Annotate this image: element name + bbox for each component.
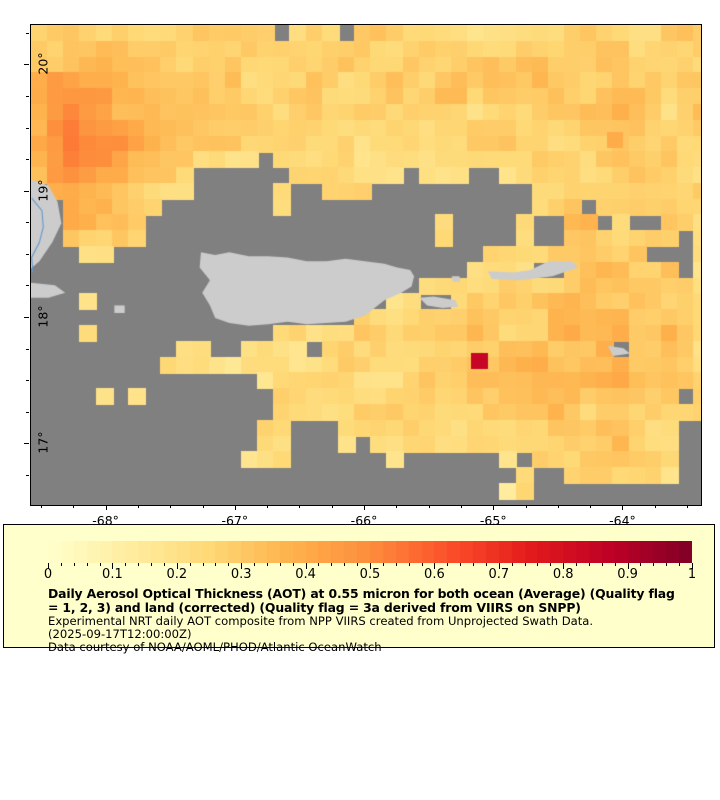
colorbar-tick xyxy=(512,563,513,566)
aot-map-panel[interactable] xyxy=(30,24,702,506)
x-tick-minor xyxy=(41,505,42,508)
colorbar-tick xyxy=(293,563,294,566)
colorbar-tick xyxy=(318,563,319,566)
colorbar-tick-label: 0.3 xyxy=(231,567,252,582)
colorbar-tick xyxy=(679,563,680,566)
y-tick-minor xyxy=(26,128,29,129)
y-tick-major xyxy=(24,191,29,192)
colorbar-tick xyxy=(267,563,268,566)
colorbar-tick-label: 0.5 xyxy=(360,567,381,582)
x-tick-minor xyxy=(687,505,688,508)
x-tick-minor xyxy=(267,505,268,508)
colorbar-tick xyxy=(447,563,448,566)
x-tick-minor xyxy=(590,505,591,508)
colorbar-tick xyxy=(87,563,88,566)
colorbar-tick-label: 0.6 xyxy=(424,567,445,582)
y-tick-minor xyxy=(26,254,29,255)
x-tick-minor xyxy=(332,505,333,508)
x-tick-minor xyxy=(558,505,559,508)
x-tick-minor xyxy=(461,505,462,508)
colorbar-tick xyxy=(422,563,423,566)
colorbar-tick xyxy=(100,563,101,566)
y-tick-minor xyxy=(26,412,29,413)
y-axis-label: 19° xyxy=(36,179,51,201)
x-tick-minor xyxy=(396,505,397,508)
y-tick-major xyxy=(24,443,29,444)
y-tick-major xyxy=(24,64,29,65)
aot-map-page: -68°-67°-66°-65°-64°17°18°19°20° 00.10.2… xyxy=(0,0,720,800)
y-tick-minor xyxy=(26,159,29,160)
colorbar-tick xyxy=(460,563,461,566)
colorbar-tick xyxy=(151,563,152,566)
colorbar-tick xyxy=(228,563,229,566)
colorbar-tick xyxy=(666,563,667,566)
colorbar-tick-label: 1 xyxy=(688,567,696,582)
y-tick-minor xyxy=(26,380,29,381)
y-tick-major xyxy=(24,317,29,318)
colorbar-tick-label: 0.8 xyxy=(553,567,574,582)
y-axis-label: 18° xyxy=(36,305,51,327)
x-tick-minor xyxy=(526,505,527,508)
y-tick-minor xyxy=(26,475,29,476)
colorbar-tick xyxy=(203,563,204,566)
colorbar-tick xyxy=(215,563,216,566)
colorbar-tick xyxy=(61,563,62,566)
colorbar-tick xyxy=(344,563,345,566)
colorbar-tick xyxy=(190,563,191,566)
colorbar[interactable] xyxy=(48,541,692,563)
colorbar-tick xyxy=(525,563,526,566)
legend-caption-subtitle: Experimental NRT daily AOT composite fro… xyxy=(48,615,698,654)
x-tick-minor xyxy=(655,505,656,508)
colorbar-tick xyxy=(589,563,590,566)
y-tick-minor xyxy=(26,285,29,286)
x-tick-minor xyxy=(203,505,204,508)
x-tick-major xyxy=(622,505,623,510)
colorbar-tick xyxy=(280,563,281,566)
colorbar-tick xyxy=(473,563,474,566)
y-tick-minor xyxy=(26,96,29,97)
colorbar-tick xyxy=(396,563,397,566)
legend-caption-title: Daily Aerosol Optical Thickness (AOT) at… xyxy=(48,587,688,614)
x-tick-major xyxy=(235,505,236,510)
colorbar-tick-label: 0.4 xyxy=(295,567,316,582)
colorbar-tick-label: 0.9 xyxy=(617,567,638,582)
x-tick-minor xyxy=(73,505,74,508)
aot-raster xyxy=(31,25,701,505)
colorbar-tick-label: 0.1 xyxy=(102,567,123,582)
y-axis-label: 17° xyxy=(36,432,51,454)
colorbar-tick xyxy=(74,563,75,566)
colorbar-tick xyxy=(125,563,126,566)
x-tick-minor xyxy=(170,505,171,508)
y-tick-minor xyxy=(26,33,29,34)
colorbar-tick xyxy=(409,563,410,566)
colorbar-tick xyxy=(138,563,139,566)
legend-panel: 00.10.20.30.40.50.60.70.80.91 Daily Aero… xyxy=(3,524,715,648)
x-tick-minor xyxy=(299,505,300,508)
colorbar-tick-label: 0.2 xyxy=(166,567,187,582)
colorbar-tick xyxy=(357,563,358,566)
colorbar-tick-label: 0 xyxy=(44,567,52,582)
colorbar-tick xyxy=(486,563,487,566)
colorbar-tick xyxy=(383,563,384,566)
y-tick-minor xyxy=(26,222,29,223)
x-tick-major xyxy=(364,505,365,510)
y-axis-label: 20° xyxy=(36,53,51,75)
colorbar-tick xyxy=(537,563,538,566)
colorbar-tick xyxy=(164,563,165,566)
y-tick-minor xyxy=(26,349,29,350)
colorbar-tick xyxy=(615,563,616,566)
x-tick-major xyxy=(106,505,107,510)
x-tick-major xyxy=(493,505,494,510)
colorbar-tick-label: 0.7 xyxy=(488,567,509,582)
colorbar-tick xyxy=(576,563,577,566)
colorbar-tick xyxy=(254,563,255,566)
colorbar-tick xyxy=(550,563,551,566)
colorbar-tick xyxy=(653,563,654,566)
colorbar-tick xyxy=(602,563,603,566)
x-tick-minor xyxy=(138,505,139,508)
colorbar-tick xyxy=(331,563,332,566)
x-tick-minor xyxy=(429,505,430,508)
colorbar-tick xyxy=(640,563,641,566)
colorbar-gradient xyxy=(48,541,692,563)
